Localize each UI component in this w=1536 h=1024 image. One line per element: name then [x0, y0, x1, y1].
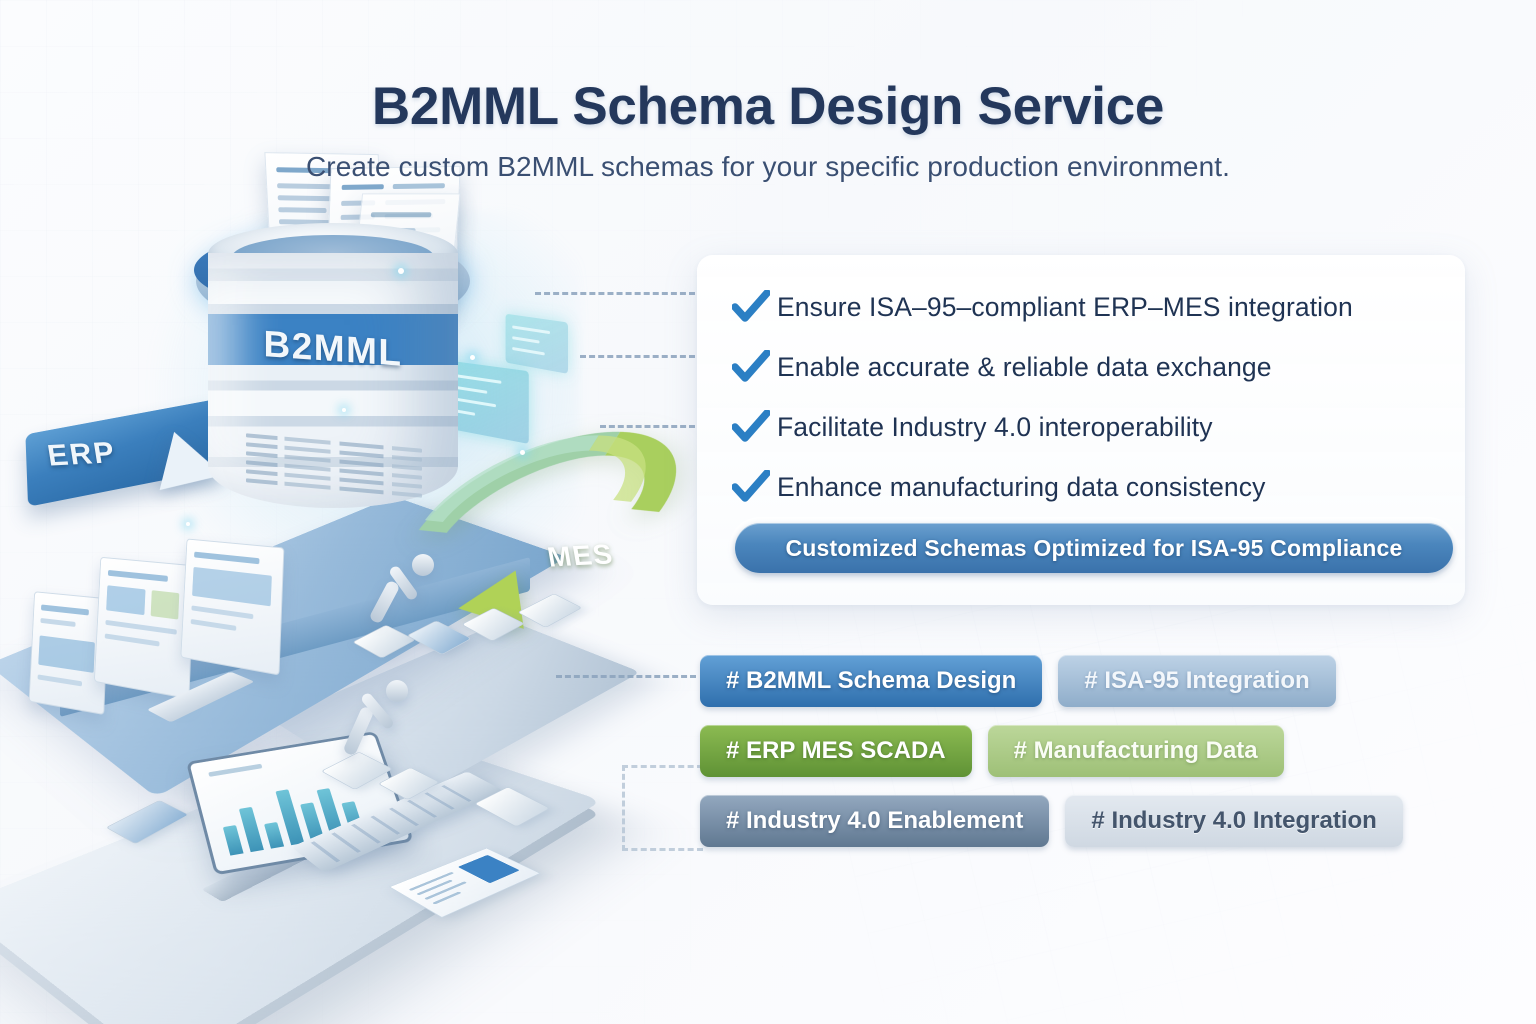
- tag-row: # Industry 4.0 Enablement# Industry 4.0 …: [700, 795, 1460, 847]
- sparkle-icon: [342, 408, 346, 412]
- robot-joint: [412, 554, 434, 576]
- b2mml-database-cylinder: B2MML: [208, 245, 458, 545]
- hmi-screen: [94, 557, 195, 699]
- check-icon: [725, 410, 777, 444]
- dashboard-title-line: [208, 764, 262, 777]
- tag-chip[interactable]: # Industry 4.0 Enablement: [700, 795, 1049, 847]
- tag-chip[interactable]: # Manufacturing Data: [988, 725, 1284, 777]
- sparkle-icon: [520, 450, 525, 455]
- hmi-screen: [180, 538, 284, 675]
- isometric-illustration: ERP MES: [0, 150, 720, 980]
- sparkle-icon: [398, 268, 404, 274]
- hmi-screen-cluster: [26, 550, 286, 720]
- page-title: B2MML Schema Design Service: [0, 76, 1536, 137]
- tag-chip[interactable]: # ERP MES SCADA: [700, 725, 972, 777]
- sparkle-icon: [470, 355, 475, 360]
- sparkle-icon: [186, 522, 190, 526]
- mes-arrow-label: MES: [545, 539, 616, 574]
- erp-arrow-label: ERP: [45, 436, 118, 473]
- connector-line: [556, 675, 696, 678]
- benefit-label: Facilitate Industry 4.0 interoperability: [777, 412, 1213, 443]
- compliance-cta-button[interactable]: Customized Schemas Optimized for ISA-95 …: [735, 523, 1453, 573]
- benefit-label: Ensure ISA–95–compliant ERP–MES integrat…: [777, 292, 1353, 323]
- check-icon: [725, 350, 777, 384]
- check-icon: [725, 470, 777, 504]
- tag-chip[interactable]: # B2MML Schema Design: [700, 655, 1042, 707]
- benefits-list: Ensure ISA–95–compliant ERP–MES integrat…: [725, 277, 1437, 517]
- benefit-item: Enhance manufacturing data consistency: [725, 457, 1437, 517]
- robot-joint: [386, 680, 408, 702]
- connector-line: [580, 355, 695, 358]
- tag-row: # B2MML Schema Design# ISA-95 Integratio…: [700, 655, 1460, 707]
- benefit-label: Enhance manufacturing data consistency: [777, 472, 1265, 503]
- connector-bracket: [622, 765, 703, 851]
- tag-row: # ERP MES SCADA# Manufacturing Data: [700, 725, 1460, 777]
- benefit-item: Ensure ISA–95–compliant ERP–MES integrat…: [725, 277, 1437, 337]
- check-icon: [725, 290, 777, 324]
- tag-chip[interactable]: # Industry 4.0 Integration: [1065, 795, 1402, 847]
- sheet-blue-block: [458, 855, 520, 883]
- tag-list: # B2MML Schema Design# ISA-95 Integratio…: [700, 655, 1460, 865]
- benefits-card: Ensure ISA–95–compliant ERP–MES integrat…: [697, 255, 1465, 605]
- tag-chip[interactable]: # ISA-95 Integration: [1058, 655, 1335, 707]
- benefit-item: Facilitate Industry 4.0 interoperability: [725, 397, 1437, 457]
- connector-line: [535, 292, 695, 295]
- benefit-item: Enable accurate & reliable data exchange: [725, 337, 1437, 397]
- connector-line: [600, 425, 695, 428]
- poster-canvas: ERP MES: [0, 0, 1536, 1024]
- benefit-label: Enable accurate & reliable data exchange: [777, 352, 1272, 383]
